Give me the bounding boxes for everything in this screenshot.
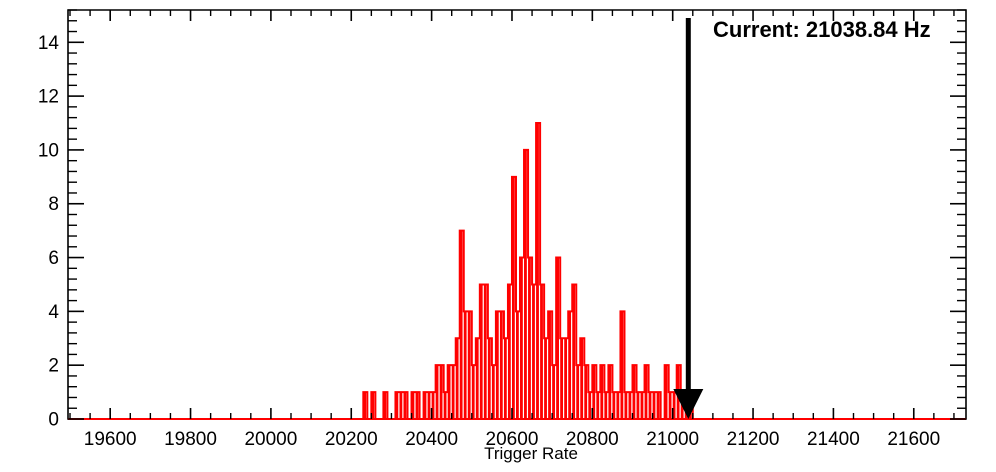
histogram-bin [500,311,503,419]
x-tick-label: 19600 [84,429,137,450]
histogram-bin [484,284,487,419]
x-tick-label: 21200 [727,429,780,450]
histogram-bin [649,392,652,419]
x-tick-label: 20200 [325,429,378,450]
histogram-bin [468,311,471,419]
histogram-bin [403,392,406,419]
histogram-bin [600,365,603,419]
root-canvas: 1960019800200002020020400206002080021000… [0,0,996,472]
histogram-bin [496,311,499,419]
histogram-bin [584,365,587,419]
histogram-bin [572,284,575,419]
histogram-bin [528,258,531,419]
histogram-bin [645,365,648,419]
x-tick-label: 19800 [164,429,217,450]
histogram-bin [476,338,479,419]
histogram-bin [516,311,519,419]
histogram-bin [665,365,668,419]
histogram-bin [424,392,427,419]
y-tick-label: 6 [48,248,59,269]
histogram-bin [564,338,567,419]
histogram-bin [492,365,495,419]
y-tick-label: 12 [38,87,59,108]
histogram-bin [472,365,475,419]
trigger-rate-histogram: 1960019800200002020020400206002080021000… [0,0,996,472]
histogram-bin [669,392,672,419]
histogram-bin [576,365,579,419]
y-tick-label: 8 [48,194,59,215]
current-value-label: Current: 21038.84 Hz [713,17,931,42]
histogram-bin [480,284,483,419]
x-axis-title: Trigger Rate [484,444,578,463]
histogram-bin [633,365,636,419]
y-tick-label: 14 [38,33,60,54]
histogram-bin [544,338,547,419]
histogram-bin [540,284,543,419]
histogram-bin [608,365,611,419]
histogram-bin [556,258,559,419]
histogram-bin [604,392,607,419]
histogram-bin [620,311,623,419]
histogram-bin [536,123,539,419]
histogram-bin [383,392,386,419]
histogram-bin [624,392,627,419]
histogram-bin [399,392,402,419]
histogram-bin [395,392,398,419]
histogram-bin [532,284,535,419]
histogram-bin [657,392,660,419]
histogram-bin [363,392,366,419]
histogram-bin [524,150,527,419]
histogram-bin [580,338,583,419]
histogram-bin [560,338,563,419]
histogram-bin [504,338,507,419]
histogram-bin [452,365,455,419]
histogram-bin [637,392,640,419]
histogram-bin [464,311,467,419]
histogram-bin [548,311,551,419]
y-tick-label: 0 [48,410,59,431]
histogram-bin [641,392,644,419]
histogram-bin [444,392,447,419]
x-tick-label: 20000 [244,429,297,450]
histogram-bin [428,392,431,419]
histogram-bin [552,365,555,419]
histogram-bin [596,392,599,419]
histogram-bin [448,365,451,419]
histogram-bin [520,258,523,419]
y-tick-label: 4 [48,302,59,323]
y-tick-label: 10 [38,140,59,161]
x-tick-label: 21600 [887,429,940,450]
histogram-bin [488,338,491,419]
x-tick-label: 20400 [405,429,458,450]
x-tick-label: 21400 [807,429,860,450]
histogram-bin [512,177,515,419]
y-tick-label: 2 [48,356,59,377]
histogram-bin [508,284,511,419]
histogram-bin [629,392,632,419]
histogram-bin [456,338,459,419]
histogram-bin [440,365,443,419]
histogram-bin [616,392,619,419]
histogram-bin [436,365,439,419]
x-tick-label: 21000 [646,429,699,450]
histogram-bin [588,392,591,419]
histogram-bin [568,311,571,419]
histogram-bin [416,392,419,419]
histogram-bin [460,231,463,419]
